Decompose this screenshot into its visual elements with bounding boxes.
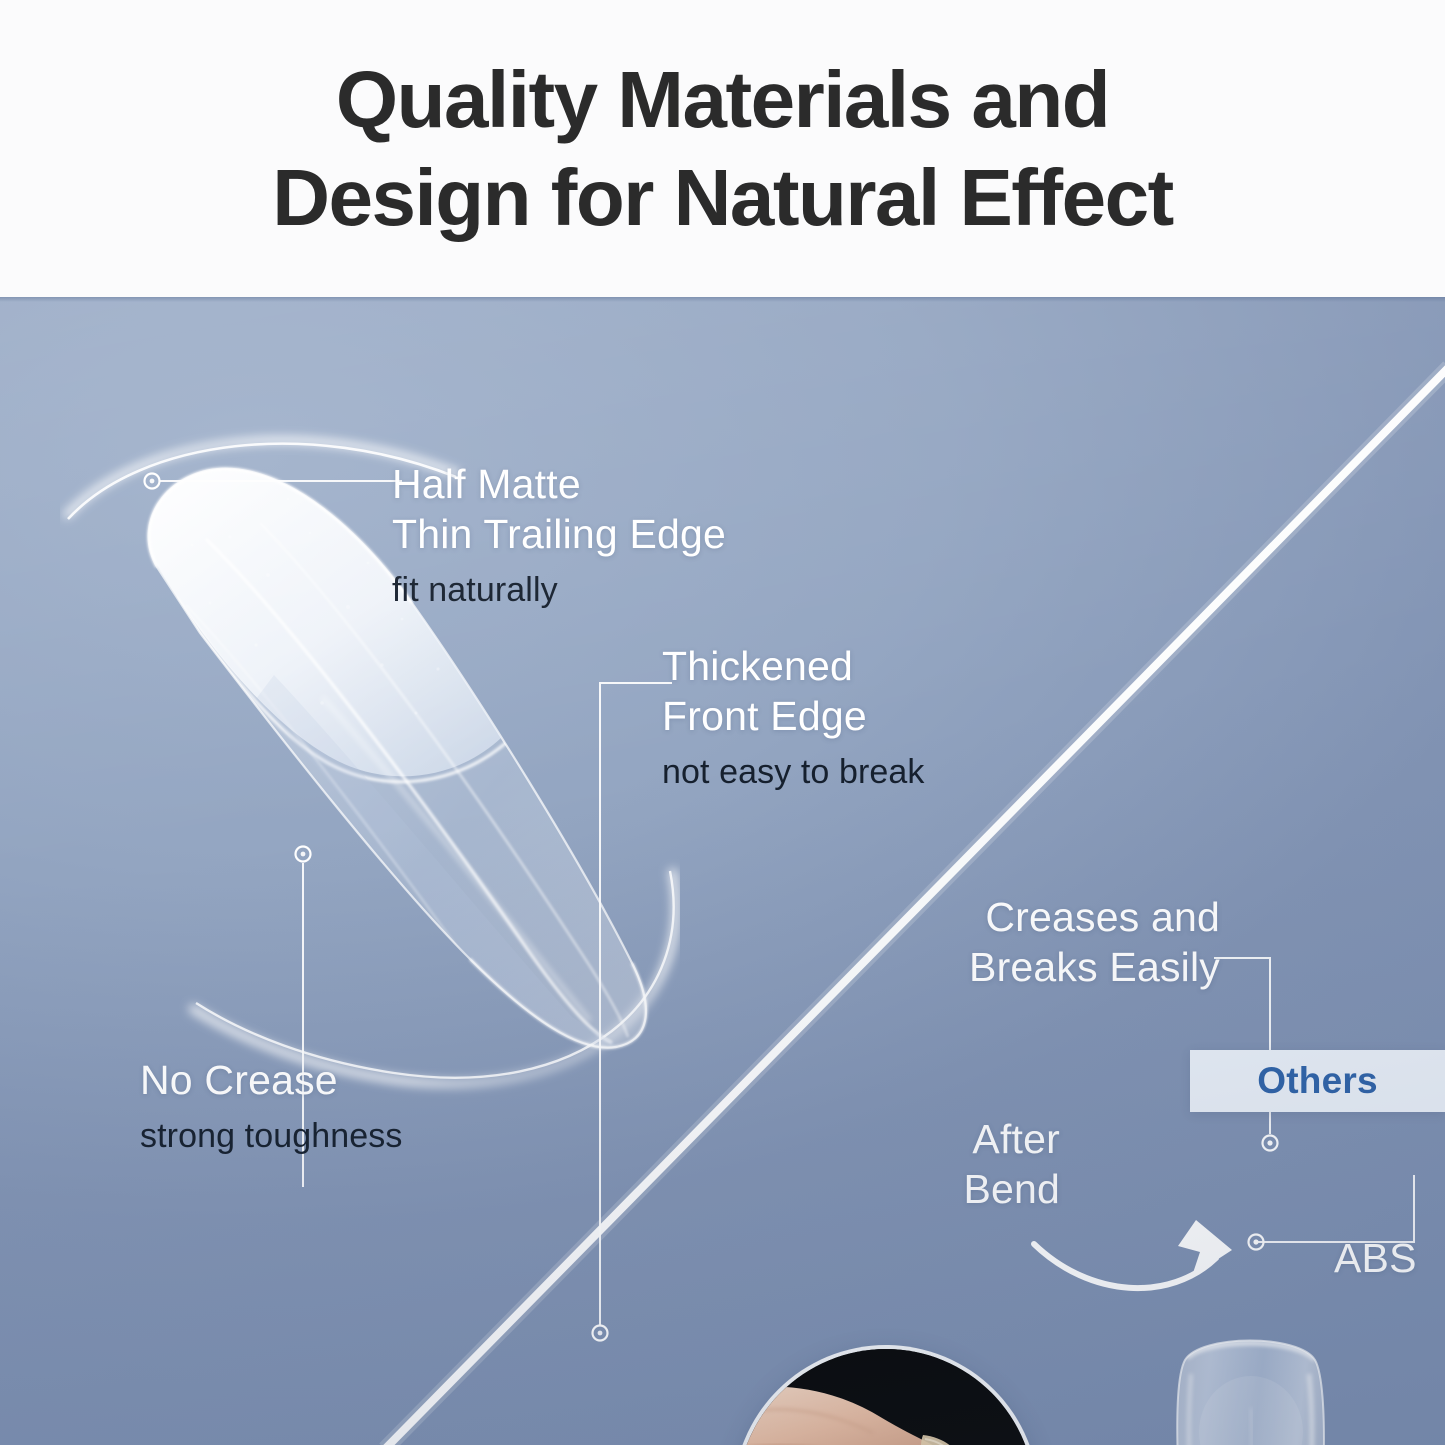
annotation-thickened-line-2: Front Edge — [662, 691, 925, 741]
annotation-creases-line-1: Creases and — [880, 892, 1220, 942]
annotation-abs: ABS — [1334, 1233, 1417, 1283]
annotation-abs-line-1: ABS — [1334, 1233, 1417, 1283]
annotation-half-matte-subtitle: fit naturally — [392, 569, 726, 612]
header-banner: Quality Materials and Design for Natural… — [0, 0, 1445, 297]
others-abs-nail-tip-illustration — [1155, 1312, 1345, 1445]
annotation-thickened-line-1: Thickened — [662, 641, 925, 691]
annotation-after-bend-line-1: After — [900, 1114, 1060, 1164]
page-title-line-2: Design for Natural Effect — [93, 149, 1353, 247]
annotation-no-crease-line-1: No Crease — [140, 1055, 402, 1105]
comparison-stage: Half Matte Thin Trailing Edge fit natura… — [0, 297, 1445, 1445]
annotation-thickened-subtitle: not easy to break — [662, 751, 925, 794]
page-title: Quality Materials and Design for Natural… — [93, 51, 1353, 246]
annotation-no-crease: No Crease strong toughness — [140, 1055, 402, 1158]
annotation-thickened-front-edge: Thickened Front Edge not easy to break — [662, 641, 925, 794]
annotation-creases-line-2: Breaks Easily — [880, 942, 1220, 992]
annotation-after-bend: After Bend — [900, 1114, 1060, 1214]
brand-badge-others: Others — [1190, 1050, 1445, 1112]
page-title-line-1: Quality Materials and — [93, 51, 1353, 149]
infographic-page: Quality Materials and Design for Natural… — [0, 0, 1445, 1445]
annotation-after-bend-line-2: Bend — [900, 1164, 1060, 1214]
annotation-half-matte-line-2: Thin Trailing Edge — [392, 509, 726, 559]
annotation-half-matte-line-1: Half Matte — [392, 459, 726, 509]
annotation-creases-breaks: Creases and Breaks Easily — [880, 892, 1220, 992]
annotation-no-crease-subtitle: strong toughness — [140, 1115, 402, 1158]
annotation-half-matte: Half Matte Thin Trailing Edge fit natura… — [392, 459, 726, 612]
